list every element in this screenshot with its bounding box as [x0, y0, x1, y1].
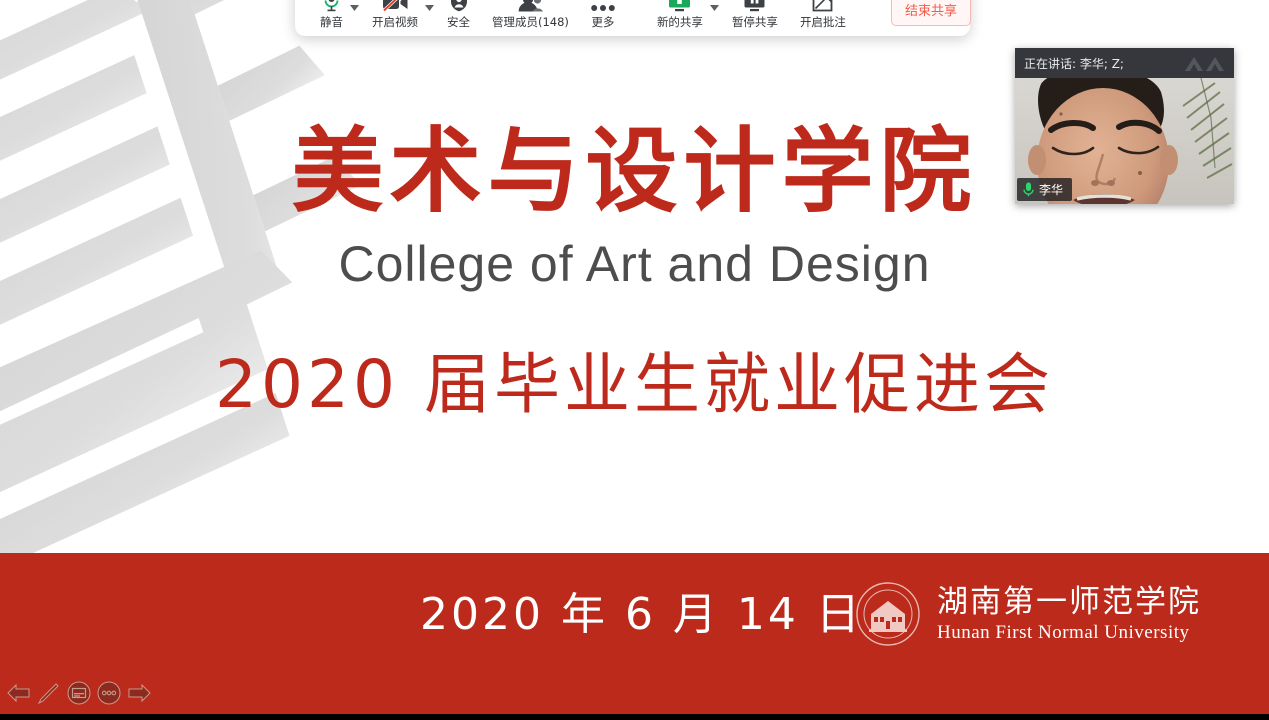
slide-footer-banner: 2020 年 6 月 14 日 [0, 553, 1269, 714]
ellipsis-circle-icon[interactable] [96, 680, 122, 706]
toolbar-label-new-share: 新的共享 [657, 15, 703, 29]
end-share-button[interactable]: 结束共享 [891, 0, 971, 26]
toolbar-label-mute: 静音 [320, 15, 343, 29]
participant-name-badge: 李华 [1017, 178, 1072, 201]
arrow-right-icon[interactable] [126, 680, 152, 706]
screen-root: 美术与设计学院 College of Art and Design 2020 届… [0, 0, 1269, 720]
toolbar-item-new-share[interactable]: 新的共享 [646, 0, 714, 29]
participants-icon [517, 0, 543, 12]
participant-video-panel[interactable]: 正在讲话: 李华; Z; [1015, 48, 1234, 204]
slide-subtitle-cn: 2020 届毕业生就业促进会 [0, 345, 1269, 425]
toolbar-item-more[interactable]: 更多 [580, 0, 626, 29]
video-panel-header: 正在讲话: 李华; Z; [1015, 48, 1234, 78]
toolbar-label-security: 安全 [447, 15, 470, 29]
toolbar-left-group: 静音 开启视频 [309, 0, 626, 29]
pen-icon[interactable] [36, 680, 62, 706]
toolbar-item-mute[interactable]: 静音 [309, 0, 354, 29]
video-feed[interactable]: 李华 [1015, 78, 1234, 204]
toolbar-label-participants: 管理成员(148) [492, 15, 569, 29]
more-dots-icon [591, 0, 615, 12]
toolbar-item-annotate[interactable]: 开启批注 [789, 0, 857, 29]
powerpoint-nav-controls[interactable] [6, 680, 152, 706]
toolbar-label-pause-share: 暂停共享 [732, 15, 778, 29]
collapse-chevrons-icon[interactable] [1183, 54, 1227, 72]
slide-icon[interactable] [66, 680, 92, 706]
share-screen-icon [667, 0, 692, 12]
toolbar-label-start-video: 开启视频 [372, 15, 418, 29]
slide-date: 2020 年 6 月 14 日 [420, 588, 863, 642]
shield-icon [450, 0, 468, 12]
university-logo: 湖南第一师范学院 Hunan First Normal University [855, 581, 1201, 647]
university-name-cn: 湖南第一师范学院 [937, 584, 1201, 620]
university-emblem-icon [855, 581, 921, 647]
active-speaker-label: 正在讲话: 李华; Z; [1024, 55, 1124, 72]
bottom-black-strip [0, 714, 1269, 720]
participant-name: 李华 [1039, 181, 1063, 198]
toolbar-label-annotate: 开启批注 [800, 15, 846, 29]
toolbar-item-start-video[interactable]: 开启视频 [361, 0, 429, 29]
toolbar-item-security[interactable]: 安全 [436, 0, 481, 29]
annotate-icon [812, 0, 833, 12]
slide-title-en: College of Art and Design [0, 232, 1269, 296]
toolbar-item-participants[interactable]: 管理成员(148) [481, 0, 580, 29]
zoom-meeting-toolbar: 静音 开启视频 [295, 0, 970, 36]
pause-share-icon [743, 0, 766, 12]
microphone-green-icon [1023, 182, 1034, 197]
toolbar-share-group: 新的共享 暂停共享 [646, 0, 857, 29]
toolbar-item-pause-share[interactable]: 暂停共享 [721, 0, 789, 29]
university-name-en: Hunan First Normal University [937, 622, 1201, 644]
toolbar-label-more: 更多 [591, 15, 614, 29]
arrow-left-icon[interactable] [6, 680, 32, 706]
video-off-icon [382, 0, 409, 12]
microphone-icon [321, 0, 342, 12]
